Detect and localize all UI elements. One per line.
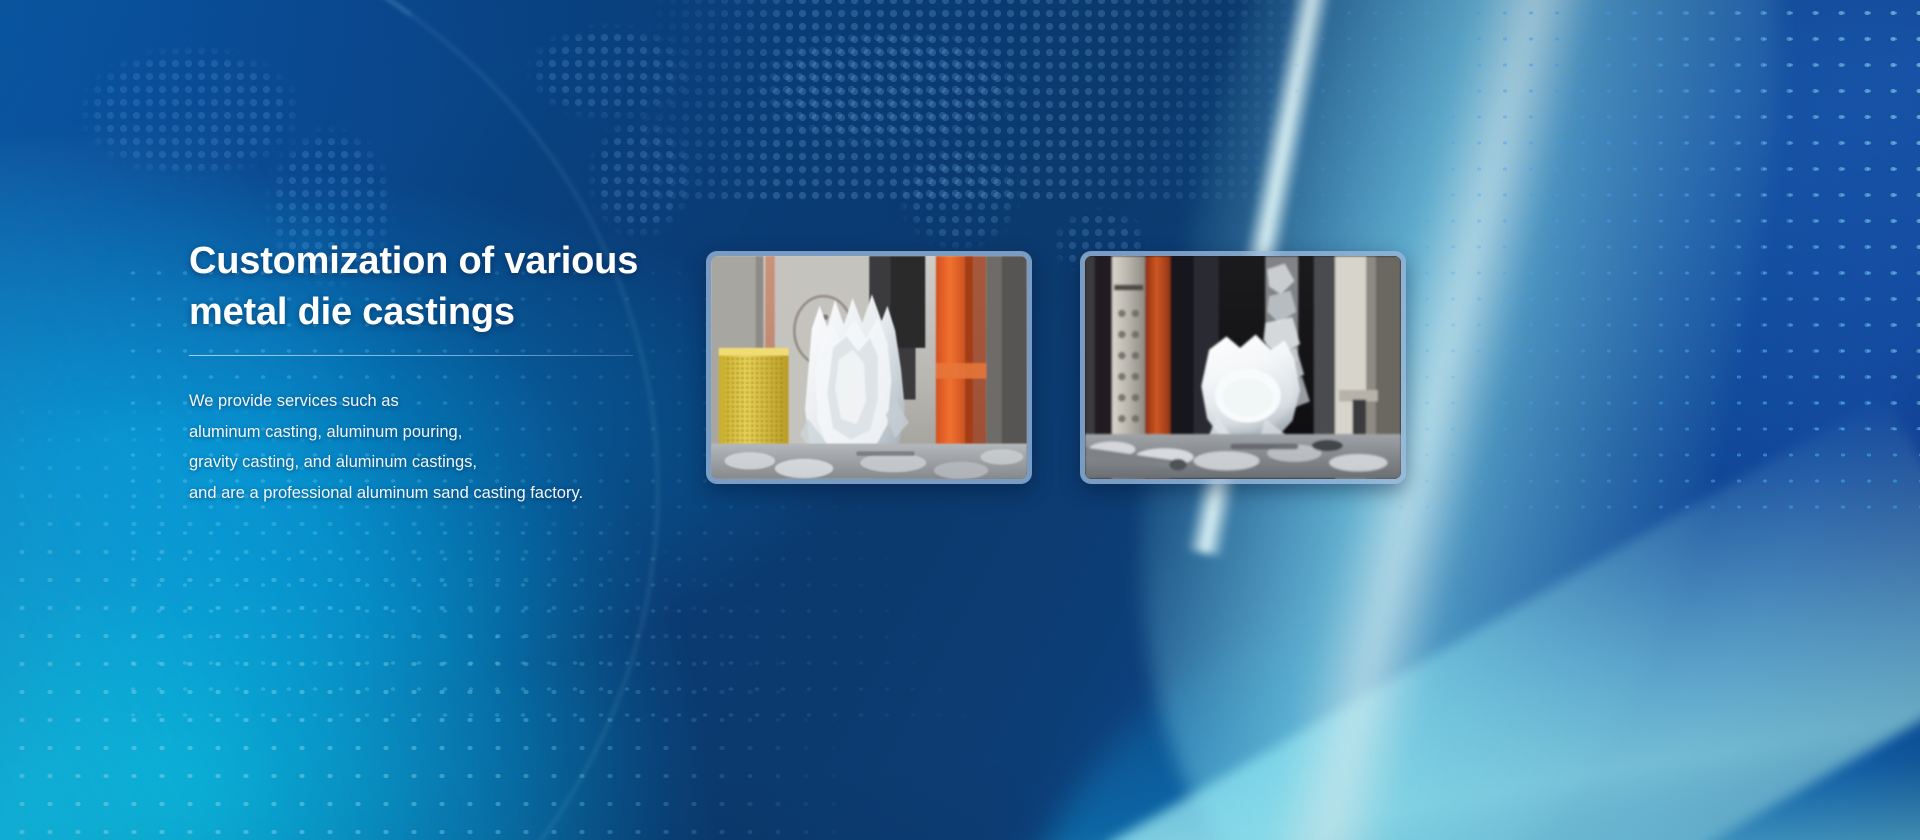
halftone-dots-right-bright bbox=[1490, 0, 1920, 430]
hero-image-gallery bbox=[706, 251, 1406, 484]
headline-line-1: Customization of various bbox=[189, 240, 638, 282]
product-image-card-2[interactable] bbox=[1080, 251, 1406, 484]
hero-text-block: Customization of various metal die casti… bbox=[189, 236, 659, 508]
hero-description: We provide services such as aluminum cas… bbox=[189, 386, 659, 508]
description-line-1: We provide services such as bbox=[189, 386, 659, 417]
product-image-card-1[interactable] bbox=[706, 251, 1032, 484]
page-title: Customization of various metal die casti… bbox=[189, 236, 659, 337]
title-divider bbox=[189, 355, 633, 356]
hero-banner: Customization of various metal die casti… bbox=[0, 0, 1920, 840]
description-line-2: aluminum casting, aluminum pouring, bbox=[189, 417, 659, 448]
headline-line-2: metal die castings bbox=[189, 291, 515, 333]
die-casting-photo-2 bbox=[1085, 256, 1401, 479]
die-casting-photo-1 bbox=[711, 256, 1027, 479]
product-image-1 bbox=[711, 256, 1027, 479]
description-line-4: and are a professional aluminum sand cas… bbox=[189, 478, 659, 509]
product-image-2 bbox=[1085, 256, 1401, 479]
description-line-3: gravity casting, and aluminum castings, bbox=[189, 447, 659, 478]
